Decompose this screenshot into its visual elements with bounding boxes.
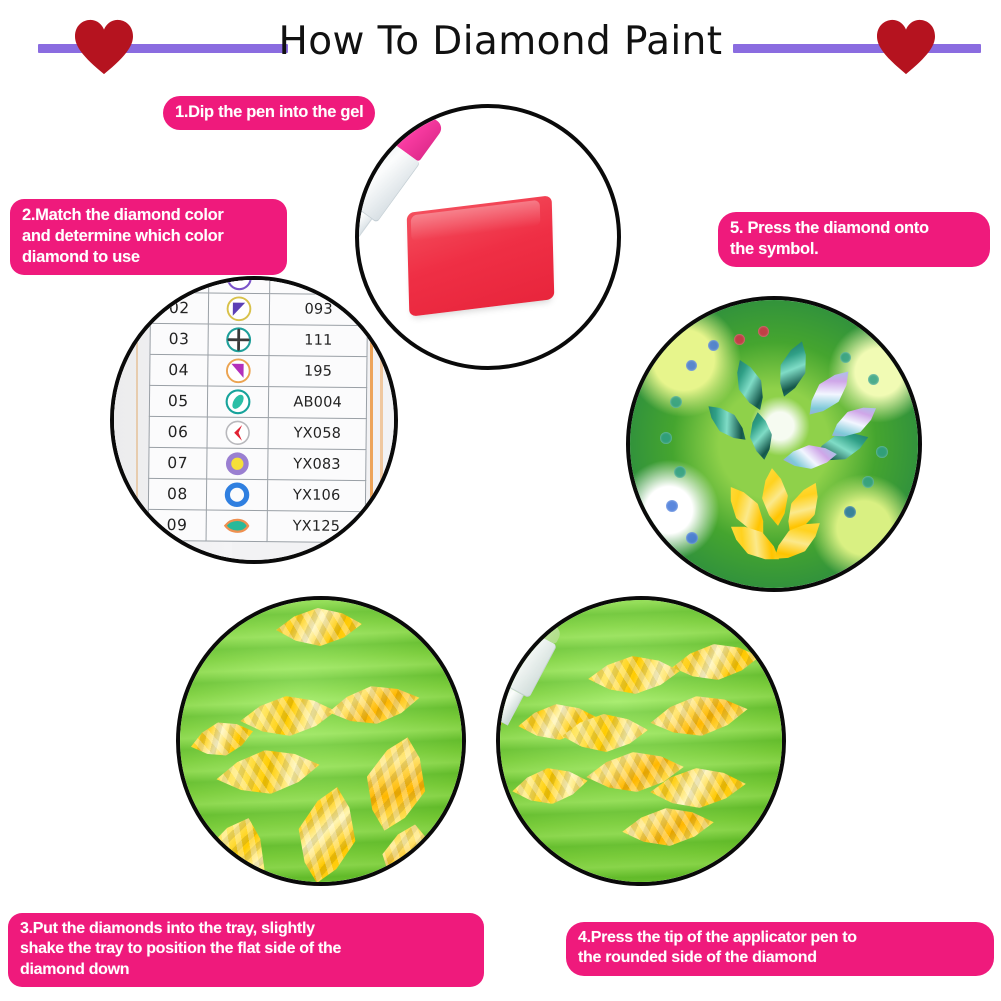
- teal-ellipse-circle-symbol: [224, 388, 252, 416]
- step-4-photo-bubble: [496, 596, 786, 886]
- color-chart-row: 02 093: [150, 292, 367, 325]
- orange-margin-stripe: [380, 280, 383, 560]
- plus-cross-circle-symbol: [225, 326, 253, 354]
- chart-cell-code: AB004: [269, 387, 367, 419]
- chart-cell-number: 03: [150, 323, 208, 355]
- color-chart-legend-photo: 02002 09303 11104 19505 AB00406 YX05807Y…: [114, 280, 394, 560]
- printed-symbol-dot: [862, 476, 874, 488]
- step-label-line: 5. Press the diamond onto: [730, 218, 978, 239]
- step-label-line: 1.Dip the pen into the gel: [175, 102, 363, 123]
- red-gel-pad: [407, 195, 555, 316]
- printed-symbol-dot: [670, 396, 682, 408]
- chart-cell-code: 093: [270, 294, 368, 326]
- step-label-line: diamond down: [20, 960, 472, 980]
- teal-leaf-orange-outline-symbol: [223, 512, 251, 540]
- chart-cell-code: YX058: [268, 418, 366, 450]
- step-4-label: 4.Press the tip of the applicator pen to…: [566, 922, 994, 976]
- yellow-dot-purple-ring-symbol: [223, 450, 251, 478]
- step-label-line: 3.Put the diamonds into the tray, slight…: [20, 919, 472, 939]
- chart-cell-code: 020: [270, 276, 368, 295]
- placing-diamond-on-canvas-photo: [630, 300, 918, 588]
- chart-cell-number: 04: [150, 354, 208, 386]
- chart-cell-number: [151, 276, 209, 293]
- canvas-sheet: 02002 09303 11104 19505 AB00406 YX05807Y…: [114, 280, 394, 560]
- magenta-triangle-circle-symbol: [224, 357, 252, 385]
- blue-donut-symbol: [223, 481, 251, 509]
- printed-symbol-dot: [868, 374, 879, 385]
- printed-symbol-dot: [686, 360, 697, 371]
- printed-symbol-dot: [666, 500, 678, 512]
- infographic-canvas: How To Diamond Paint 02002: [0, 0, 1001, 1001]
- color-chart-row: 08YX106: [148, 478, 365, 511]
- printed-symbol-dot: [708, 340, 719, 351]
- step-label-line: the symbol.: [730, 239, 978, 260]
- header-banner: How To Diamond Paint: [0, 0, 1001, 90]
- chart-cell-symbol: [206, 448, 268, 480]
- step-5-label: 5. Press the diamond ontothe symbol.: [718, 212, 990, 267]
- printed-symbol-dot: [844, 506, 856, 518]
- red-arrow-circle-symbol: [224, 419, 252, 447]
- color-chart-row: 09YX125: [148, 509, 365, 542]
- chart-cell-symbol: [206, 479, 268, 511]
- printed-symbol-dot: [840, 352, 851, 363]
- step-5-photo-bubble: [626, 296, 922, 592]
- color-chart-table: 02002 09303 11104 19505 AB00406 YX05807Y…: [148, 276, 369, 543]
- chart-cell-number: 05: [149, 385, 207, 417]
- chart-cell-code: 111: [269, 325, 367, 357]
- step-3-photo-bubble: [176, 596, 466, 886]
- color-chart-row: 03 111: [150, 323, 367, 356]
- step-3-label: 3.Put the diamonds into the tray, slight…: [8, 913, 484, 987]
- color-chart-row: 05 AB004: [149, 385, 366, 418]
- step-1-label: 1.Dip the pen into the gel: [163, 96, 375, 130]
- step-label-line: and determine which color: [22, 226, 275, 247]
- orange-margin-stripe: [370, 280, 373, 560]
- chart-cell-symbol: [208, 324, 270, 356]
- printed-symbol-dot: [876, 446, 888, 458]
- printed-symbol-dot: [734, 334, 745, 345]
- diamonds-in-green-tray-photo: [180, 600, 462, 882]
- pen-picking-up-diamond-photo: [500, 600, 782, 882]
- step-1-photo-bubble: [355, 104, 621, 370]
- printed-symbol-dot: [660, 432, 672, 444]
- chart-cell-number: 02: [150, 292, 208, 324]
- chart-cell-code: 195: [269, 356, 367, 388]
- step-label-line: shake the tray to position the flat side…: [20, 939, 472, 959]
- chart-cell-number: 07: [149, 447, 207, 479]
- chart-cell-symbol: [208, 276, 270, 294]
- chart-cell-number: 06: [149, 416, 207, 448]
- chart-cell-number: 08: [148, 478, 206, 510]
- chart-cell-number: 09: [148, 509, 206, 541]
- printed-symbol-dot: [758, 326, 769, 337]
- color-chart-body: 02002 09303 11104 19505 AB00406 YX05807Y…: [148, 276, 368, 543]
- color-chart-row: 04 195: [150, 354, 367, 387]
- color-chart-row: 06 YX058: [149, 416, 366, 449]
- printed-symbol-dot: [674, 466, 686, 478]
- step-label-line: the rounded side of the diamond: [578, 948, 982, 968]
- canvas-guide-line: [136, 280, 138, 560]
- chart-cell-code: YX106: [268, 480, 366, 512]
- chart-cell-symbol: [207, 417, 269, 449]
- page-title: How To Diamond Paint: [0, 19, 1001, 64]
- step-2-label: 2.Match the diamond colorand determine w…: [10, 199, 287, 275]
- chart-cell-code: YX125: [267, 511, 365, 543]
- filled-triangle-circle-symbol: [225, 295, 253, 323]
- step-2-photo-bubble: 02002 09303 11104 19505 AB00406 YX05807Y…: [110, 276, 398, 564]
- step-label-line: 4.Press the tip of the applicator pen to: [578, 928, 982, 948]
- chart-cell-symbol: [207, 355, 269, 387]
- step-label-line: diamond to use: [22, 247, 275, 268]
- chart-cell-symbol: [206, 510, 268, 542]
- chart-cell-code: YX083: [268, 449, 366, 481]
- pen-dipping-into-gel-photo: [359, 108, 617, 366]
- double-dot-circle-symbol: [225, 276, 253, 292]
- printed-symbol-dot: [686, 532, 698, 544]
- step-label-line: 2.Match the diamond color: [22, 205, 275, 226]
- color-chart-row: 07YX083: [149, 447, 366, 480]
- chart-cell-symbol: [208, 293, 270, 325]
- chart-cell-symbol: [207, 386, 269, 418]
